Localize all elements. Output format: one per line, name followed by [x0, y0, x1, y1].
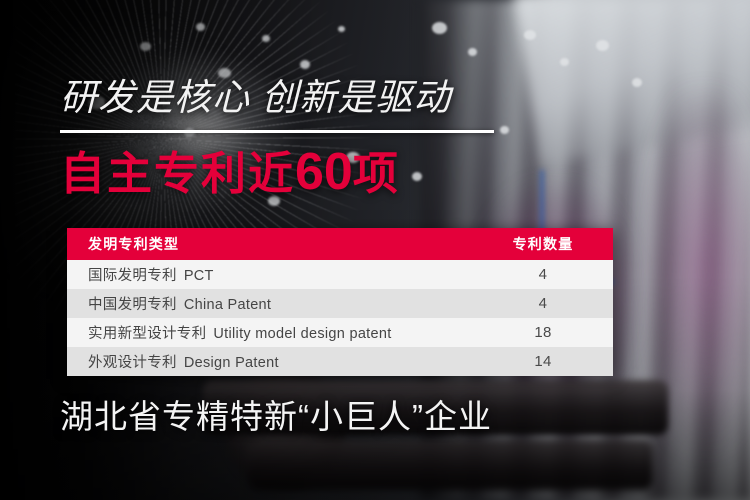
- cell-patent-count: 4: [473, 260, 613, 289]
- column-header-type: 发明专利类型: [67, 228, 473, 260]
- table-row: 国际发明专利PCT4: [67, 260, 613, 289]
- patent-type-cn: 实用新型设计专利: [88, 326, 206, 342]
- cell-patent-type: 国际发明专利PCT: [67, 260, 473, 289]
- patent-count-number: 60: [295, 143, 353, 201]
- cell-patent-count: 18: [473, 318, 613, 347]
- cell-patent-type: 外观设计专利Design Patent: [67, 347, 473, 376]
- cell-patent-type: 实用新型设计专利Utility model design patent: [67, 318, 473, 347]
- headline-secondary-prefix: 自主专利近: [60, 148, 295, 199]
- patent-type-en: Utility model design patent: [213, 326, 391, 342]
- patent-table: 发明专利类型 专利数量 国际发明专利PCT4中国发明专利China Patent…: [67, 228, 613, 376]
- headline-primary: 研发是核心 创新是驱动: [60, 79, 451, 116]
- headline-divider: [60, 130, 494, 133]
- column-header-count: 专利数量: [473, 228, 613, 260]
- table-header-row: 发明专利类型 专利数量: [67, 228, 613, 260]
- patent-table-body: 国际发明专利PCT4中国发明专利China Patent4实用新型设计专利Uti…: [67, 260, 613, 376]
- patent-table-head: 发明专利类型 专利数量: [67, 228, 613, 260]
- patent-type-cn: 国际发明专利: [88, 268, 177, 284]
- table-row: 外观设计专利Design Patent14: [67, 347, 613, 376]
- cell-patent-count: 14: [473, 347, 613, 376]
- headline-secondary-suffix: 项: [353, 148, 400, 199]
- table-row: 实用新型设计专利Utility model design patent18: [67, 318, 613, 347]
- patent-type-en: China Patent: [184, 297, 271, 313]
- poster-content: 研发是核心 创新是驱动 自主专利近60项 发明专利类型 专利数量 国际发明专利P…: [0, 0, 750, 500]
- patent-type-cn: 外观设计专利: [88, 355, 177, 371]
- cell-patent-count: 4: [473, 289, 613, 318]
- patent-poster: 研发是核心 创新是驱动 自主专利近60项 发明专利类型 专利数量 国际发明专利P…: [0, 0, 750, 500]
- footer-tagline: 湖北省专精特新“小巨人”企业: [60, 400, 492, 433]
- patent-type-en: Design Patent: [184, 355, 279, 371]
- patent-type-cn: 中国发明专利: [88, 297, 177, 313]
- patent-type-en: PCT: [184, 268, 214, 284]
- table-row: 中国发明专利China Patent4: [67, 289, 613, 318]
- cell-patent-type: 中国发明专利China Patent: [67, 289, 473, 318]
- headline-secondary: 自主专利近60项: [60, 146, 400, 198]
